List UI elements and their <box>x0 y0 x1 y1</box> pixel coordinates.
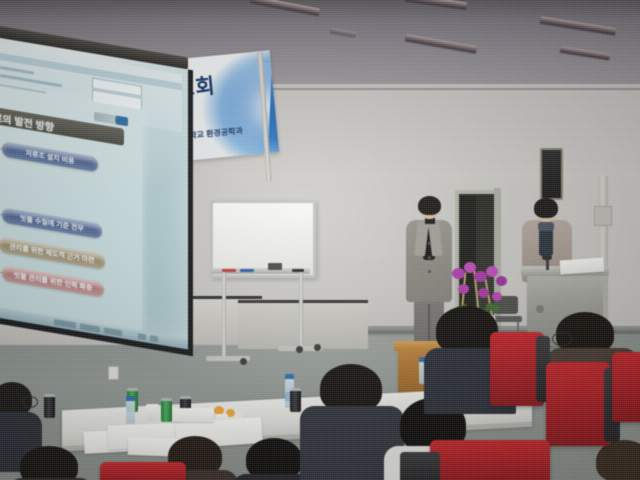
auditorium-seat <box>100 462 186 480</box>
hair <box>534 198 558 218</box>
low-wall-counter-right <box>238 300 368 349</box>
whiteboard-stand-leg <box>299 272 303 348</box>
bottle-cap <box>126 396 135 401</box>
whiteboard-eraser-icon <box>268 263 282 270</box>
whiteboard-caster-wheel <box>240 358 247 365</box>
hair <box>596 440 640 480</box>
water-bottle <box>126 398 135 424</box>
orchid-bloom <box>464 262 476 273</box>
lectern-knob <box>536 305 544 313</box>
beverage-can <box>161 400 172 422</box>
hair <box>320 364 382 412</box>
hair <box>418 196 441 215</box>
wall-junction-box <box>594 206 612 226</box>
presentation-slide: 으로의 발전 방향 저류조 설치 비용 빗물 수질에 기준 전무 관리를 위한 … <box>0 83 142 330</box>
auditorium-seat <box>430 440 550 480</box>
projection-surface: 으로의 발전 방향 저류조 설치 비용 빗물 수질에 기준 전무 관리를 위한 … <box>0 36 193 356</box>
paper-cup <box>146 404 159 421</box>
orchid-bloom <box>496 276 507 286</box>
projection-screen: 으로의 발전 방향 저류조 설치 비용 빗물 수질에 기준 전무 관리를 위한 … <box>0 34 188 367</box>
hair <box>20 446 78 480</box>
photo-scene: 발표회 표회 대구대학교 환경공학과 으로의 발전 방향 <box>0 0 640 480</box>
slide-pill-2: 빗물 수질에 기준 전무 <box>2 207 102 239</box>
auditorium-seat <box>546 362 610 446</box>
whiteboard <box>210 200 316 278</box>
beverage-can <box>290 390 301 412</box>
orchid-bloom <box>474 271 487 282</box>
whiteboard-stand-leg <box>222 272 226 358</box>
orchid-bloom <box>458 284 469 294</box>
slide-pill-4: 빗물 관리를 위한 인력 확충 <box>2 265 104 297</box>
handout-paper <box>172 408 214 422</box>
slide-pill-1: 저류조 설치 비용 <box>2 141 98 172</box>
auditorium-seat-frame <box>400 452 440 480</box>
marker-blue-icon <box>240 269 254 272</box>
wall-outlet <box>108 366 119 380</box>
bottle-cap <box>285 374 294 379</box>
scarf <box>538 222 554 231</box>
wall-speaker-icon <box>540 148 563 200</box>
microphone-head-icon <box>542 255 552 260</box>
slide-pill-3: 관리를 위한 제도적 근거 마련 <box>0 237 105 270</box>
whiteboard-caster-wheel <box>296 346 303 353</box>
eyeglasses-icon <box>22 396 38 408</box>
orchid-bloom <box>486 266 498 277</box>
auditorium-seat <box>612 352 640 422</box>
orchid-bloom <box>452 268 465 279</box>
whiteboard-caster-wheel <box>314 344 321 351</box>
eyeglasses-icon <box>552 332 572 346</box>
beverage-can <box>44 396 55 418</box>
orchid-bloom <box>478 288 489 298</box>
